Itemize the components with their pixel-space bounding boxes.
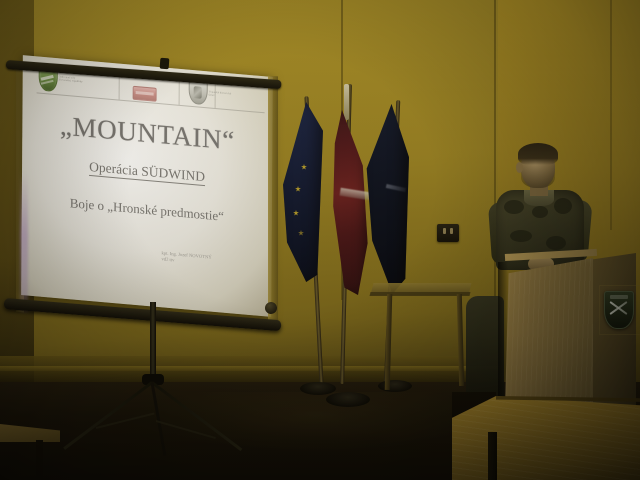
banner-stripe <box>136 91 154 96</box>
desk-wood-grain <box>452 396 640 480</box>
wall-seam <box>610 0 612 230</box>
slide-subtitle-operation: Operácia SÜDWIND <box>22 153 272 191</box>
unit-crest-icon <box>604 291 634 329</box>
slide-title: „MOUNTAIN“ <box>22 107 272 160</box>
header-caption-left: Ozbrojené sily Slovenskej republiky <box>59 75 115 87</box>
gray-shield-emblem-icon <box>189 81 208 106</box>
red-banner-emblem-icon <box>133 86 157 102</box>
presenter-hair <box>518 143 558 165</box>
tripod-pole <box>150 302 156 380</box>
eu-star-icon <box>301 164 307 170</box>
wall-socket <box>437 224 459 242</box>
shield-band <box>41 80 54 85</box>
socket-slot <box>443 228 446 234</box>
lectern-wood-grain <box>505 258 593 410</box>
tripod-projection-screen: Ozbrojené sily Slovenskej republiky Voje… <box>0 52 300 480</box>
crest-top-band <box>610 295 628 299</box>
shield-figure <box>194 86 202 99</box>
flag-stand-base <box>378 380 412 392</box>
presentation-room-photo: Ozbrojené sily Slovenskej republiky Voje… <box>0 0 640 480</box>
desk-leg <box>488 432 497 480</box>
presentation-slide: Ozbrojené sily Slovenskej republiky Voje… <box>21 55 273 317</box>
header-divider <box>179 81 180 105</box>
flag-stand-base <box>300 382 336 395</box>
camo-pattern <box>546 236 566 250</box>
slide-subtitle-battle: Boje o „Hronské predmostie“ <box>22 191 272 229</box>
slide-byline: kpt. Ing. Jozef NOVOTNÝ vd2 ttv <box>161 250 263 272</box>
camo-pattern <box>554 198 572 214</box>
header-divider <box>119 76 120 100</box>
presenter-face-shadow <box>521 164 555 188</box>
slide-subtitle-operation-text: Operácia SÜDWIND <box>89 159 205 186</box>
socket-slot <box>450 228 453 234</box>
camo-pattern <box>532 206 548 218</box>
screen-hook-icon <box>160 58 170 70</box>
flag-pole-top-slovak <box>344 84 349 120</box>
flag-stand-base <box>326 392 370 407</box>
header-caption-right: Vojenský historický ústav <box>209 90 263 102</box>
camo-pattern <box>504 200 524 214</box>
tripod-leg <box>151 381 242 451</box>
small-table-edge <box>370 292 471 296</box>
camo-pattern <box>510 230 532 242</box>
